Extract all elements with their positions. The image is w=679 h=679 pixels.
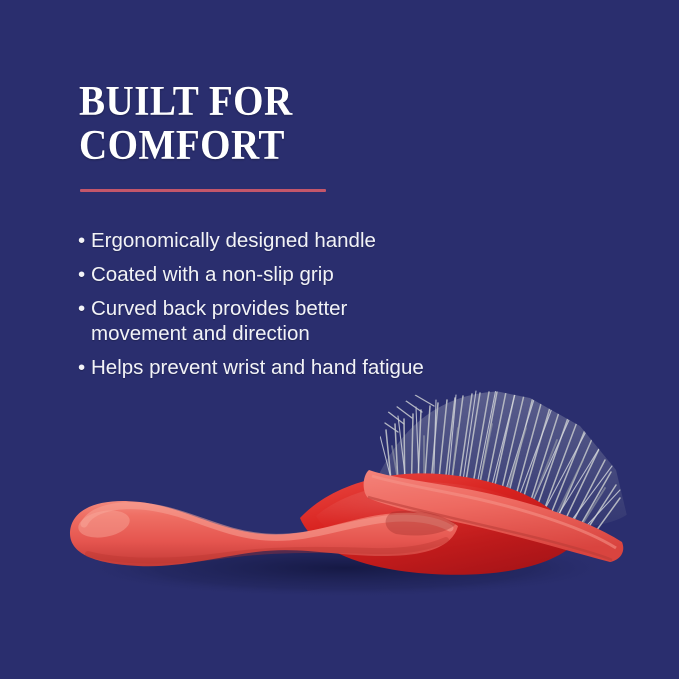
list-item-label: Ergonomically designed handle [91, 228, 508, 253]
list-item: • Helps prevent wrist and hand fatigue [78, 355, 508, 380]
list-item-label: Helps prevent wrist and hand fatigue [91, 355, 508, 380]
page-title-line-1: BUILT FOR [79, 80, 470, 124]
bullet-icon: • [78, 355, 85, 380]
list-item: • Curved back provides better movement a… [78, 296, 353, 346]
bullet-icon: • [78, 262, 85, 287]
list-item: • Ergonomically designed handle [78, 228, 508, 253]
list-item-label: Curved back provides better movement and… [91, 296, 353, 346]
brush-body [300, 473, 578, 574]
title-divider [80, 189, 326, 192]
bristle-cluster [366, 389, 630, 545]
list-item: • Coated with a non-slip grip [78, 262, 508, 287]
bullet-icon: • [78, 228, 85, 253]
page-title: BUILT FOR COMFORT [79, 80, 470, 168]
list-item-label: Coated with a non-slip grip [91, 262, 508, 287]
product-shadow [75, 538, 615, 598]
bullet-icon: • [78, 296, 85, 321]
page-title-line-2: COMFORT [79, 124, 470, 168]
feature-list: • Ergonomically designed handle • Coated… [78, 228, 508, 389]
product-feature-card: BUILT FOR COMFORT • Ergonomically design… [0, 0, 679, 679]
brush-head-pad [364, 470, 624, 562]
brush-handle [70, 501, 458, 566]
